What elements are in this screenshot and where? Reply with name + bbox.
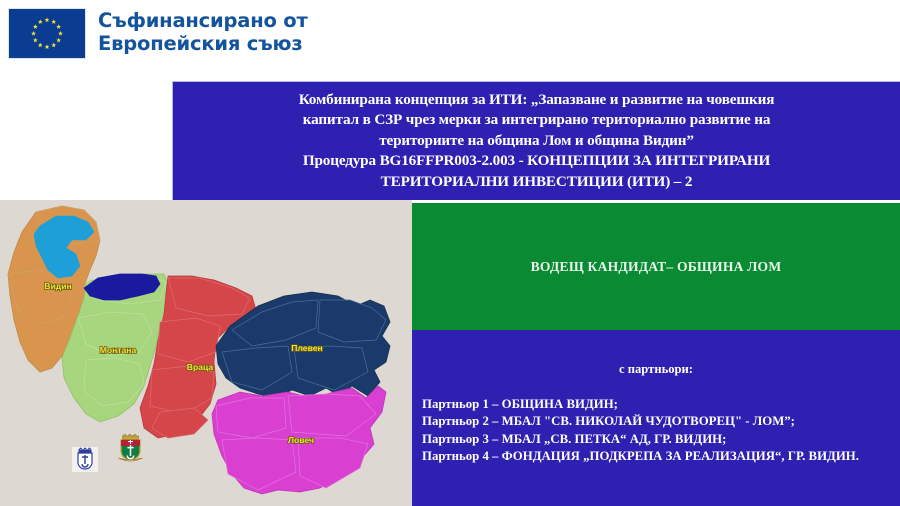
map-label-lovech: Ловеч xyxy=(288,435,314,445)
lom-coat-of-arms-icon xyxy=(117,434,144,464)
map-label-montana: Монтана xyxy=(100,345,137,355)
eu-flag-icon xyxy=(8,8,86,59)
slide-title: Комбинирана концепция за ИТИ: „Запазване… xyxy=(285,90,789,192)
presentation-slide: Съфинансирано от Европейския съюз Комбин… xyxy=(0,0,900,506)
slide-title-band: Комбинирана концепция за ИТИ: „Запазване… xyxy=(172,81,900,200)
partners-panel: с партньори: Партньор 1 – ОБЩИНА ВИДИН; … xyxy=(412,330,900,506)
list-item: Партньор 1 – ОБЩИНА ВИДИН; xyxy=(422,396,900,413)
map-label-vidin: Видин xyxy=(44,281,71,291)
eu-cofunding-label: Съфинансирано от Европейския съюз xyxy=(98,9,398,55)
partners-list: Партньор 1 – ОБЩИНА ВИДИН; Партньор 2 – … xyxy=(422,396,900,466)
list-item: Партньор 3 – МБАЛ „СВ. ПЕТКА“ АД, ГР. ВИ… xyxy=(422,431,900,448)
partners-heading: с партньори: xyxy=(412,362,900,377)
region-map: Видин Монтана Враца Плевен Ловеч xyxy=(0,200,412,506)
map-label-pleven: Плевен xyxy=(291,343,322,353)
list-item: Партньор 2 – МБАЛ "СВ. НИКОЛАЙ ЧУДОТВОРЕ… xyxy=(422,413,900,430)
eu-cofunding-header: Съфинансирано от Европейския съюз xyxy=(0,0,900,70)
list-item: Партньор 4 – ФОНДАЦИЯ „ПОДКРЕПА ЗА РЕАЛИ… xyxy=(422,448,900,465)
map-label-vratsa: Враца xyxy=(187,362,214,372)
lead-candidate-label: ВОДЕЩ КАНДИДАТ– ОБЩИНА ЛОМ xyxy=(531,259,782,275)
vidin-coat-of-arms-icon xyxy=(72,447,98,472)
lead-candidate-band: ВОДЕЩ КАНДИДАТ– ОБЩИНА ЛОМ xyxy=(412,203,900,330)
